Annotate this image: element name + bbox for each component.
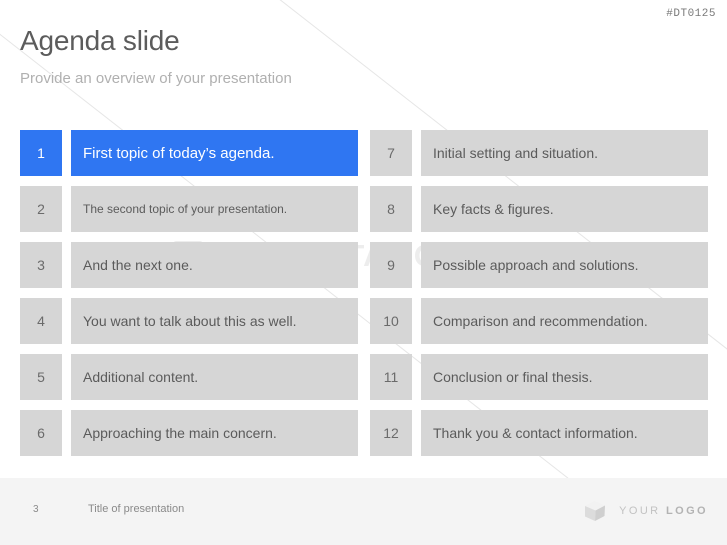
agenda-row-number: 7 [370, 130, 412, 176]
slide: #DT0125 Agenda slide Provide an overview… [0, 0, 727, 545]
agenda-row-label: Comparison and recommendation. [421, 298, 708, 344]
agenda-row-label: Thank you & contact information. [421, 410, 708, 456]
agenda-row[interactable]: 7Initial setting and situation. [370, 130, 708, 176]
logo: YOUR LOGO [582, 498, 708, 524]
agenda-row-number: 10 [370, 298, 412, 344]
logo-text: YOUR LOGO [619, 505, 708, 517]
agenda-row-number: 1 [20, 130, 62, 176]
agenda-row-number: 4 [20, 298, 62, 344]
agenda-row[interactable]: 11Conclusion or final thesis. [370, 354, 708, 400]
agenda-row-label: Conclusion or final thesis. [421, 354, 708, 400]
agenda-row[interactable]: 12Thank you & contact information. [370, 410, 708, 456]
slide-footer: 3 Title of presentation YOUR LOGO [0, 478, 727, 545]
agenda-row-number: 9 [370, 242, 412, 288]
agenda-row-number: 5 [20, 354, 62, 400]
agenda-row-number: 8 [370, 186, 412, 232]
agenda-row-label: Possible approach and solutions. [421, 242, 708, 288]
agenda-row-label: And the next one. [71, 242, 358, 288]
agenda-row[interactable]: 4You want to talk about this as well. [20, 298, 358, 344]
agenda-row[interactable]: 1First topic of today’s agenda. [20, 130, 358, 176]
slide-header: Agenda slide Provide an overview of your… [20, 24, 292, 89]
agenda-row-label: You want to talk about this as well. [71, 298, 358, 344]
cube-logo-icon [582, 498, 608, 524]
footer-page-number: 3 [33, 504, 39, 515]
agenda-row-number: 12 [370, 410, 412, 456]
agenda-row[interactable]: 3And the next one. [20, 242, 358, 288]
agenda-row-label: Key facts & figures. [421, 186, 708, 232]
agenda-grid: 1First topic of today’s agenda.2The seco… [0, 130, 727, 460]
page-subtitle: Provide an overview of your presentation [20, 69, 292, 89]
agenda-row[interactable]: 6Approaching the main concern. [20, 410, 358, 456]
agenda-row[interactable]: 10Comparison and recommendation. [370, 298, 708, 344]
agenda-row-label: First topic of today’s agenda. [71, 130, 358, 176]
agenda-row-label: Approaching the main concern. [71, 410, 358, 456]
agenda-row-label: The second topic of your presentation. [71, 186, 358, 232]
agenda-row[interactable]: 8Key facts & figures. [370, 186, 708, 232]
agenda-row-number: 3 [20, 242, 62, 288]
agenda-row-number: 11 [370, 354, 412, 400]
agenda-row-label: Initial setting and situation. [421, 130, 708, 176]
agenda-row-number: 6 [20, 410, 62, 456]
agenda-row-number: 2 [20, 186, 62, 232]
agenda-column-left: 1First topic of today’s agenda.2The seco… [20, 130, 358, 466]
agenda-row[interactable]: 5Additional content. [20, 354, 358, 400]
footer-presentation-title: Title of presentation [88, 503, 184, 515]
agenda-row-label: Additional content. [71, 354, 358, 400]
document-id: #DT0125 [666, 8, 716, 20]
logo-text-light: YOUR [619, 505, 660, 517]
agenda-column-right: 7Initial setting and situation.8Key fact… [370, 130, 708, 466]
agenda-row[interactable]: 2The second topic of your presentation. [20, 186, 358, 232]
page-title: Agenda slide [20, 24, 292, 58]
logo-text-strong: LOGO [666, 505, 708, 517]
agenda-row[interactable]: 9Possible approach and solutions. [370, 242, 708, 288]
